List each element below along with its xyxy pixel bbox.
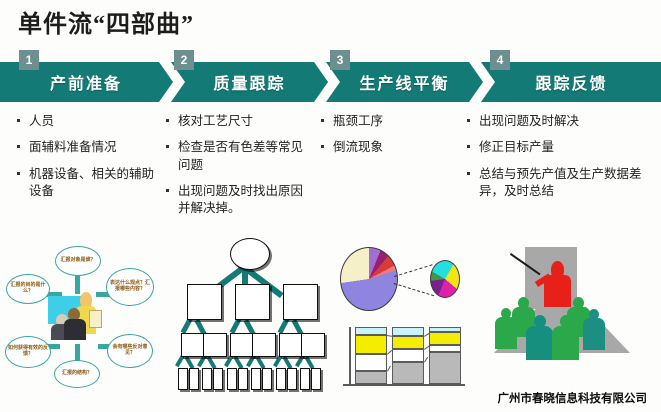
tree-node-l2 xyxy=(279,333,303,357)
bullet-column-3: 瓶颈工序 倒流现象 xyxy=(320,113,460,166)
tree-node-l3 xyxy=(311,368,321,390)
bar-segment xyxy=(392,327,424,336)
list-item: 瓶颈工序 xyxy=(320,113,460,130)
pie-of-pie-illustration xyxy=(338,243,468,313)
slide-canvas: 单件流“四部曲” 产前准备 质量跟踪 生产线平衡 跟踪反馈 1 2 3 4 人员… xyxy=(0,0,661,412)
pie-leader-line-bottom xyxy=(394,283,434,296)
banner-step-2[interactable]: 质量跟踪 xyxy=(172,62,327,102)
mindmap-bubble-2: 汇报对象是谁？ xyxy=(55,246,101,276)
bar-connector xyxy=(387,366,391,372)
list-item: 倒流现象 xyxy=(320,139,460,156)
mindmap-bubble-5: 汇报的结构？ xyxy=(54,360,100,388)
tree-node-l3 xyxy=(287,368,297,390)
tree-node-l3 xyxy=(300,368,310,390)
bar-segment xyxy=(392,362,424,384)
meeting-mindmap-illustration: 汇报的目的是什么？ 汇报对象是谁？ 表达什么观点？汇报哪些内容？ 如何获得有效的… xyxy=(4,244,156,392)
banner-step-3[interactable]: 生产线平衡 xyxy=(327,62,482,102)
bullet-column-4: 出现问题及时解决 修正目标产量 总结与预先产值及生产数据差异，及时总结 xyxy=(466,113,646,209)
list-item: 机器设备、相关的辅助设备 xyxy=(16,166,158,201)
bar-segment xyxy=(429,327,461,332)
mindmap-bubble-6: 会有哪些反对意见？ xyxy=(107,334,153,368)
list-item: 出现问题及时解决 xyxy=(466,113,646,130)
person-body-3 xyxy=(64,319,86,340)
banner-step-3-label: 生产线平衡 xyxy=(359,70,449,94)
production-line-tree-illustration xyxy=(166,238,334,398)
tree-node-l3 xyxy=(276,368,286,390)
list-item: 修正目标产量 xyxy=(466,139,646,156)
tree-node-l3 xyxy=(238,368,248,390)
list-item: 出现问题及时找出原因并解决掉。 xyxy=(165,183,311,218)
mindmap-bubble-1: 汇报的目的是什么？ xyxy=(6,274,50,304)
bar-segment xyxy=(429,332,461,345)
bar-segment xyxy=(429,345,461,352)
tree-node-l1 xyxy=(235,284,270,320)
tree-node-l3 xyxy=(227,368,237,390)
pie-leader-line-top xyxy=(394,264,433,277)
audience-body xyxy=(495,317,517,349)
tree-node-l3 xyxy=(189,368,199,390)
main-pie-chart xyxy=(340,247,398,311)
banner-step-4-label: 跟踪反馈 xyxy=(535,70,607,94)
bullet-column-1: 人员 面辅料准备情况 机器设备、相关的辅助设备 xyxy=(16,113,158,209)
page-title: 单件流“四部曲” xyxy=(18,4,194,39)
list-item: 面辅料准备情况 xyxy=(16,139,158,156)
stacked-bar-illustration xyxy=(343,327,467,389)
list-item: 核对工艺尺寸 xyxy=(165,113,311,130)
detail-pie-chart xyxy=(430,260,460,298)
audience-body xyxy=(526,326,553,360)
bar-connector xyxy=(424,357,428,363)
bullet-column-2: 核对工艺尺寸 检查是否有色差等常见问题 出现问题及时找出原因并解决掉。 xyxy=(165,113,311,226)
bar-segment xyxy=(429,352,461,384)
step-badge-3: 3 xyxy=(330,50,350,70)
tree-node-l3 xyxy=(178,368,188,390)
person-document xyxy=(89,310,102,328)
tree-node-l3 xyxy=(202,368,212,390)
training-session-illustration xyxy=(488,245,638,385)
step-badge-2: 2 xyxy=(174,50,194,70)
bar-segment xyxy=(355,371,387,384)
tree-node-l1 xyxy=(283,284,318,320)
list-item: 总结与预先产值及生产数据差异，及时总结 xyxy=(466,166,646,201)
tree-node-l2 xyxy=(203,333,227,357)
tree-node-l2 xyxy=(301,333,325,357)
bar-axis-x xyxy=(343,384,465,386)
bar-segment xyxy=(355,354,387,371)
tree-node-l2 xyxy=(252,333,276,357)
mindmap-bubble-4: 如何获得有效的反馈？ xyxy=(5,336,51,368)
bar-segment xyxy=(392,349,424,362)
banner-step-1-label: 产前准备 xyxy=(50,70,122,94)
tree-node-l3 xyxy=(251,368,261,390)
audience-body xyxy=(583,318,605,350)
tree-node-l2 xyxy=(230,333,254,357)
bar-segment xyxy=(355,335,387,354)
bar-segment xyxy=(355,327,387,335)
bar-axis-y xyxy=(349,327,351,385)
bar-segment xyxy=(392,336,424,349)
step-badge-4: 4 xyxy=(490,50,510,70)
list-item: 人员 xyxy=(16,113,158,130)
tree-node-l3 xyxy=(262,368,272,390)
bar-connector xyxy=(387,335,393,337)
list-item: 检查是否有色差等常见问题 xyxy=(165,139,311,174)
step-badge-1: 1 xyxy=(19,50,39,70)
banner-step-2-label: 质量跟踪 xyxy=(213,70,285,94)
audience-body xyxy=(552,326,579,360)
tree-node-l1 xyxy=(187,284,222,320)
tree-node-l3 xyxy=(213,368,223,390)
mindmap-bubble-3: 表达什么观点？汇报哪些内容？ xyxy=(106,268,154,306)
company-footer: 广州市春晓信息科技有限公司 xyxy=(498,390,648,406)
tree-node-l2 xyxy=(181,333,205,357)
tree-node-root xyxy=(230,238,270,270)
